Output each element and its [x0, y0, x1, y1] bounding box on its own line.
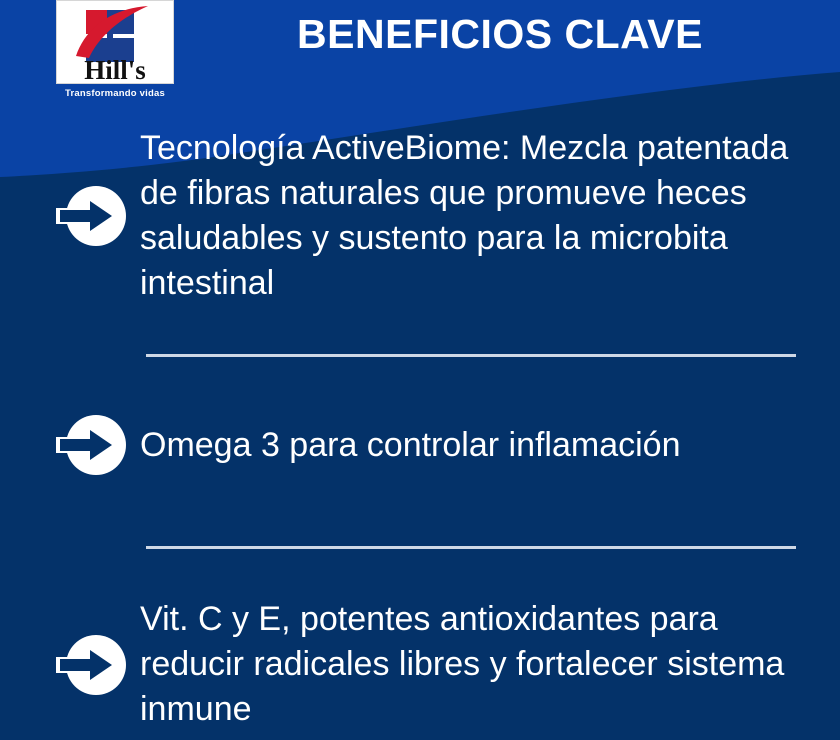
benefits-list: Tecnología ActiveBiome: Mezcla patentada…: [0, 0, 840, 740]
page-title: BENEFICIOS CLAVE: [190, 8, 810, 60]
benefit-text: Vit. C y E, potentes antioxidantes para …: [140, 597, 808, 732]
benefit-text: Omega 3 para controlar inflamación: [140, 423, 808, 468]
benefit-item: Omega 3 para controlar inflamación: [48, 413, 808, 477]
hills-logo-icon: Hill's: [56, 0, 174, 84]
arrow-right-circle-icon: [48, 184, 132, 248]
benefit-item: Vit. C y E, potentes antioxidantes para …: [48, 597, 808, 732]
brand-tagline: Transformando vidas: [56, 88, 174, 99]
poster-canvas: Hill's Transformando vidas BENEFICIOS CL…: [0, 0, 840, 740]
benefit-item: Tecnología ActiveBiome: Mezcla patentada…: [48, 126, 808, 306]
arrow-right-circle-icon: [48, 413, 132, 477]
brand-logo: Hill's Transformando vidas: [56, 0, 174, 108]
svg-text:Hill's: Hill's: [84, 55, 146, 84]
divider: [146, 546, 796, 549]
benefit-text: Tecnología ActiveBiome: Mezcla patentada…: [140, 126, 808, 306]
arrow-right-circle-icon: [48, 633, 132, 697]
divider: [146, 354, 796, 357]
